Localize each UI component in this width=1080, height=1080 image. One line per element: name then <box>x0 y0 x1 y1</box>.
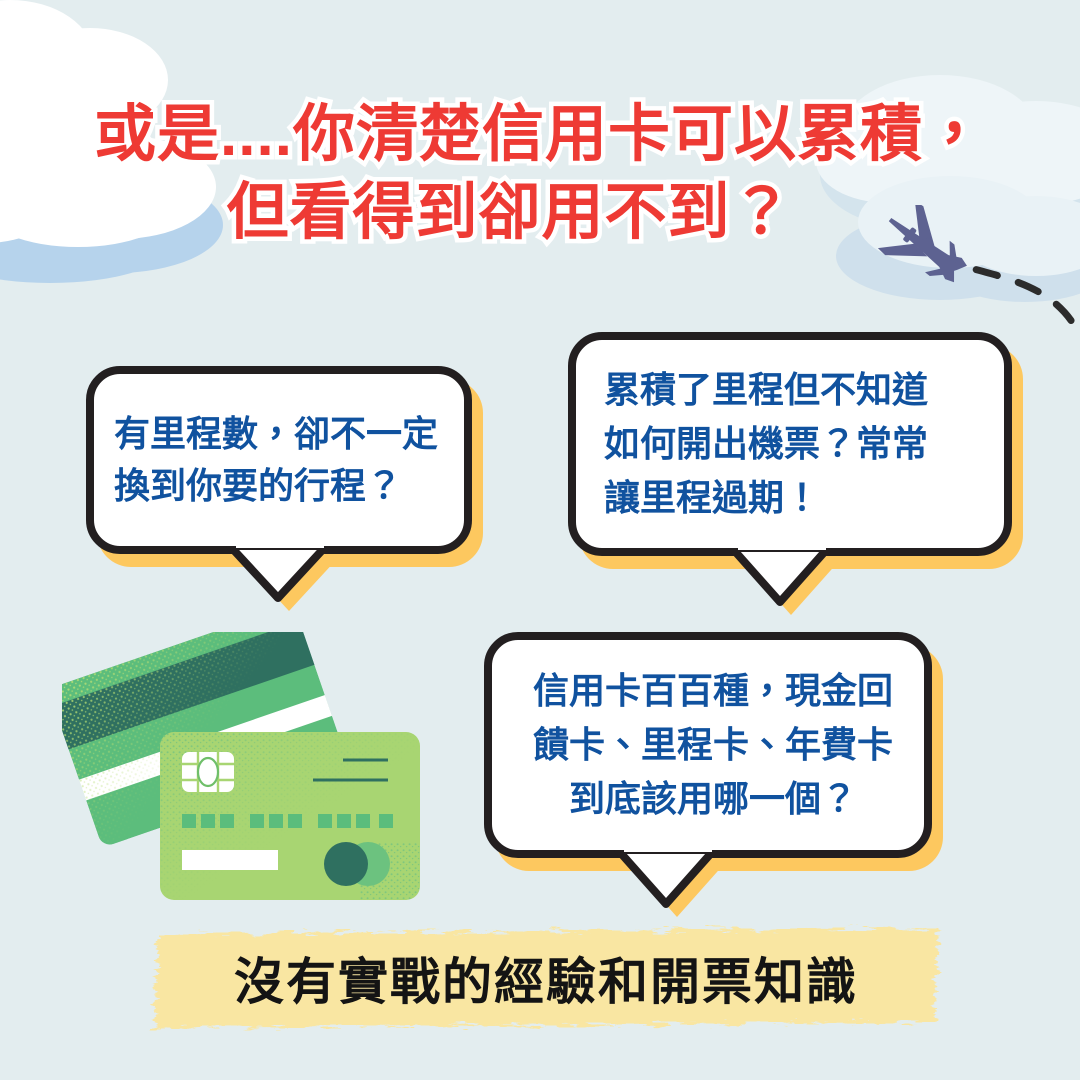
bottom-highlight-banner: 沒有實戰的經驗和開票知識 <box>146 918 946 1038</box>
bubble-text: 有里程數，卻不一定 換到你要的行程？ <box>86 366 472 554</box>
bubble-line: 如何開出機票？常常 <box>604 417 1012 471</box>
bubble-tail <box>226 546 356 616</box>
bubble-line: 有里程數，卻不一定 <box>114 408 472 460</box>
card-brand-logo-icon <box>324 842 390 886</box>
bubble-line: 累積了里程但不知道 <box>604 363 1012 417</box>
airplane-with-trail <box>862 205 1080 325</box>
cloud-left-icon <box>0 95 350 285</box>
bubble-tail <box>614 850 744 922</box>
bubble-tail <box>728 548 858 620</box>
card-name-strip <box>182 850 278 870</box>
airplane-icon <box>871 205 979 299</box>
credit-card-front <box>160 732 430 912</box>
bubble-line: 信用卡百百種，現金回 <box>494 664 932 718</box>
banner-label: 沒有實戰的經驗和開票知識 <box>146 918 946 1038</box>
bubble-text: 累積了里程但不知道 如何開出機票？常常 讓里程過期！ <box>568 332 1012 556</box>
speech-bubble-ticket-issuing[interactable]: 累積了里程但不知道 如何開出機票？常常 讓里程過期！ <box>568 332 1012 556</box>
bubble-text: 信用卡百百種，現金回 饋卡、里程卡、年費卡 到底該用哪一個？ <box>484 632 932 858</box>
speech-bubble-card-choice[interactable]: 信用卡百百種，現金回 饋卡、里程卡、年費卡 到底該用哪一個？ <box>484 632 932 858</box>
card-chip-icon <box>182 752 234 792</box>
bubble-line: 饋卡、里程卡、年費卡 <box>494 718 932 772</box>
bubble-line: 讓里程過期！ <box>604 471 1012 525</box>
bubble-line: 到底該用哪一個？ <box>494 772 932 826</box>
speech-bubble-miles-redemption[interactable]: 有里程數，卻不一定 換到你要的行程？ <box>86 366 472 554</box>
bubble-line: 換到你要的行程？ <box>114 460 472 512</box>
poster-canvas: 或是....你清楚信用卡可以累積， 但看得到卻用不到？ <box>0 0 1080 1080</box>
credit-cards-illustration <box>62 632 442 932</box>
